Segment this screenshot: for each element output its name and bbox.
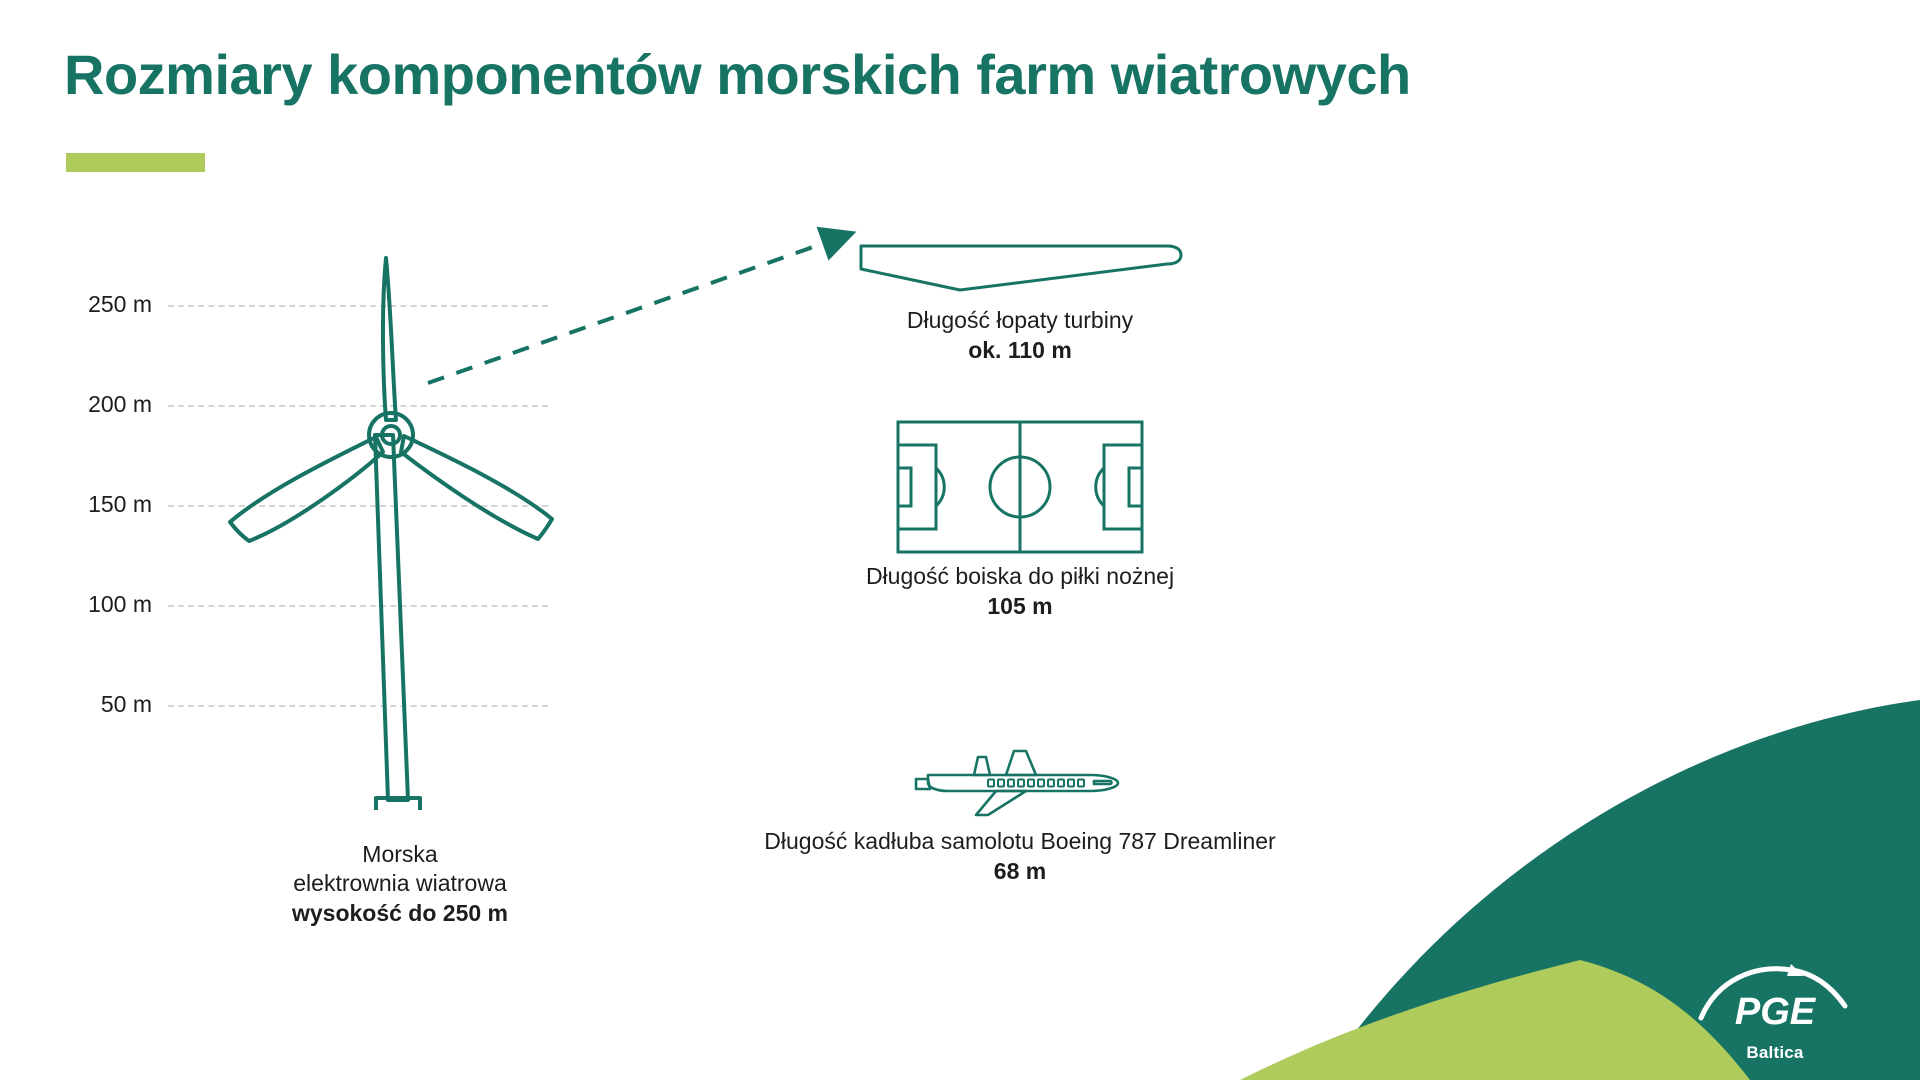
item-turbine-blade: Długość łopaty turbiny ok. 110 m xyxy=(770,238,1270,366)
turbine-value: wysokość do 250 m xyxy=(255,899,545,928)
blade-caption: Długość łopaty turbiny xyxy=(907,307,1133,333)
pge-logo-mark: PGE xyxy=(1695,962,1855,1034)
pge-logo: PGE Baltica xyxy=(1690,962,1860,1072)
pitch-caption: Długość boiska do piłki nożnej xyxy=(866,563,1174,589)
item-football-pitch: Długość boiska do piłki nożnej 105 m xyxy=(770,420,1270,622)
axis-tick-200: 200 m xyxy=(60,393,152,416)
football-pitch-icon xyxy=(896,420,1144,554)
title-accent-bar xyxy=(66,153,205,172)
airplane-icon xyxy=(914,745,1126,819)
infographic-canvas: Rozmiary komponentów morskich farm wiatr… xyxy=(0,0,1920,1080)
turbine-caption-line2: elektrownia wiatrowa xyxy=(293,870,506,896)
turbine-caption-line1: Morska xyxy=(362,841,437,867)
item-airplane: Długość kadłuba samolotu Boeing 787 Drea… xyxy=(700,745,1340,887)
axis-tick-50: 50 m xyxy=(60,693,152,716)
page-title: Rozmiary komponentów morskich farm wiatr… xyxy=(64,44,1411,107)
axis-tick-250: 250 m xyxy=(60,293,152,316)
pitch-value: 105 m xyxy=(770,592,1270,622)
pge-wordmark: PGE xyxy=(1735,991,1817,1033)
pitch-caption-block: Długość boiska do piłki nożnej 105 m xyxy=(770,562,1270,622)
axis-tick-100: 100 m xyxy=(60,593,152,616)
blade-value: ok. 110 m xyxy=(770,336,1270,366)
plane-caption: Długość kadłuba samolotu Boeing 787 Drea… xyxy=(764,828,1275,854)
turbine-caption: Morska elektrownia wiatrowa wysokość do … xyxy=(255,840,545,928)
blade-caption-block: Długość łopaty turbiny ok. 110 m xyxy=(770,306,1270,366)
plane-value: 68 m xyxy=(700,857,1340,887)
pge-baltica-label: Baltica xyxy=(1690,1043,1860,1063)
axis-tick-150: 150 m xyxy=(60,493,152,516)
turbine-blade-icon xyxy=(855,238,1185,298)
plane-caption-block: Długość kadłuba samolotu Boeing 787 Drea… xyxy=(700,827,1340,887)
